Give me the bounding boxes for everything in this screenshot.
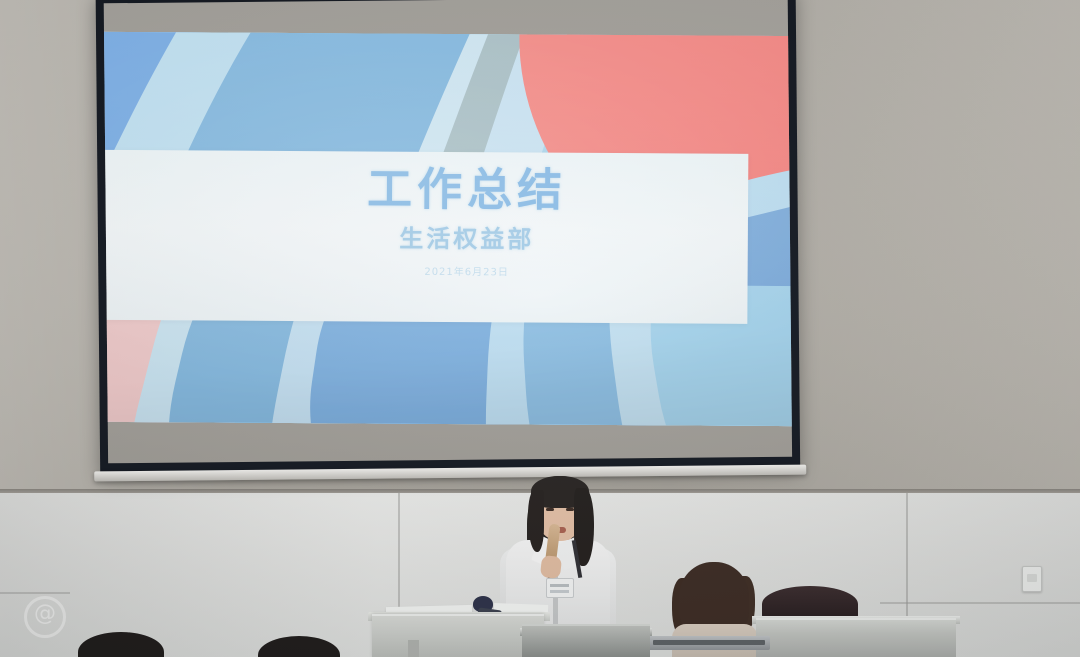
projected-slide: 工作总结 生活权益部 2021年6月23日	[104, 32, 792, 426]
keyboard-tray	[648, 636, 770, 650]
podium-leg	[408, 640, 419, 657]
side-desk	[756, 618, 956, 657]
projection-screen: 工作总结 生活权益部 2021年6月23日	[96, 0, 801, 493]
watermark-icon: @	[24, 596, 66, 638]
screen-surface: 工作总结 生活权益部 2021年6月23日	[104, 0, 792, 463]
speaker-hand	[540, 555, 562, 579]
speaker-hair-side	[528, 490, 544, 552]
slide-title: 工作总结	[186, 164, 748, 215]
screen-frame: 工作总结 生活权益部 2021年6月23日	[96, 0, 801, 473]
speaker-eye	[566, 508, 574, 511]
slide-subtitle: 生活权益部	[186, 218, 748, 256]
slide-date: 2021年6月23日	[186, 262, 748, 280]
presentation-room-photo: 工作总结 生活权益部 2021年6月23日	[0, 0, 1080, 657]
wall-outlet-icon	[1022, 566, 1042, 592]
id-badge	[546, 578, 574, 598]
speaker-eye	[546, 508, 554, 511]
wall-panel-line	[0, 592, 70, 594]
podium-right-panel	[522, 624, 650, 657]
wall-panel-line	[880, 602, 1080, 604]
podium	[372, 614, 544, 657]
slide-title-block: 工作总结 生活权益部 2021年6月23日	[104, 164, 749, 280]
slide-title-card: 工作总结 生活权益部 2021年6月23日	[104, 150, 749, 324]
